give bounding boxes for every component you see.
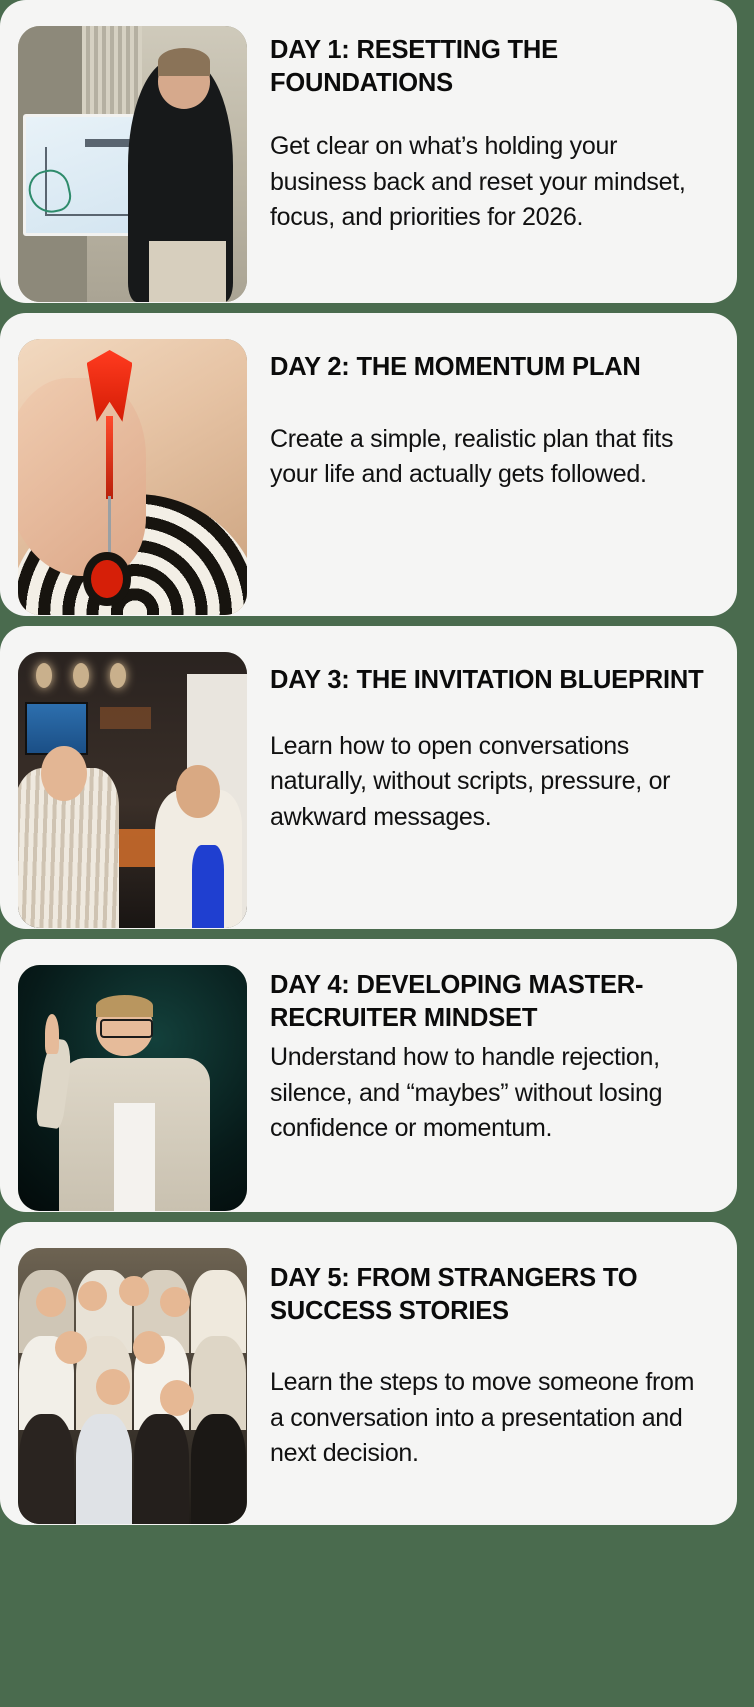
day-4-title: DAY 4: DEVELOPING MASTER-RECRUITER MINDS…	[270, 969, 711, 1034]
day-5-thumbnail	[18, 1248, 247, 1524]
celebrating-group-photo	[18, 1248, 247, 1524]
day-1-title: DAY 1: RESETTING THE FOUNDATIONS	[270, 34, 711, 99]
man-at-whiteboard-photo	[18, 26, 247, 302]
day-cards-list: DAY 1: RESETTING THE FOUNDATIONS Get cle…	[0, 0, 754, 1707]
speaker-on-stage-photo	[18, 965, 247, 1211]
dart-hitting-bullseye-photo	[18, 339, 247, 615]
networking-event-photo	[18, 652, 247, 928]
list-item-day-2[interactable]: DAY 2: THE MOMENTUM PLAN Create a simple…	[0, 313, 737, 616]
day-1-thumbnail	[18, 26, 247, 302]
day-2-body: DAY 2: THE MOMENTUM PLAN Create a simple…	[247, 339, 719, 493]
day-5-description: Learn the steps to move someone from a c…	[270, 1365, 711, 1472]
day-3-description: Learn how to open conversations naturall…	[270, 729, 711, 836]
day-1-description: Get clear on what’s holding your busines…	[270, 129, 711, 236]
day-5-body: DAY 5: FROM STRANGERS TO SUCCESS STORIES…	[247, 1248, 719, 1472]
day-3-body: DAY 3: THE INVITATION BLUEPRINT Learn ho…	[247, 652, 719, 835]
day-2-thumbnail	[18, 339, 247, 615]
day-4-description: Understand how to handle rejection, sile…	[270, 1040, 711, 1147]
day-3-thumbnail	[18, 652, 247, 928]
day-4-thumbnail	[18, 965, 247, 1211]
day-2-description: Create a simple, realistic plan that fit…	[270, 422, 711, 493]
day-5-title: DAY 5: FROM STRANGERS TO SUCCESS STORIES	[270, 1262, 711, 1327]
list-item-day-5[interactable]: DAY 5: FROM STRANGERS TO SUCCESS STORIES…	[0, 1222, 737, 1525]
list-item-day-4[interactable]: DAY 4: DEVELOPING MASTER-RECRUITER MINDS…	[0, 939, 737, 1212]
list-item-day-3[interactable]: DAY 3: THE INVITATION BLUEPRINT Learn ho…	[0, 626, 737, 929]
day-4-body: DAY 4: DEVELOPING MASTER-RECRUITER MINDS…	[247, 965, 719, 1147]
list-item-day-1[interactable]: DAY 1: RESETTING THE FOUNDATIONS Get cle…	[0, 0, 737, 303]
day-1-body: DAY 1: RESETTING THE FOUNDATIONS Get cle…	[247, 26, 719, 236]
day-2-title: DAY 2: THE MOMENTUM PLAN	[270, 351, 711, 384]
day-3-title: DAY 3: THE INVITATION BLUEPRINT	[270, 664, 711, 697]
